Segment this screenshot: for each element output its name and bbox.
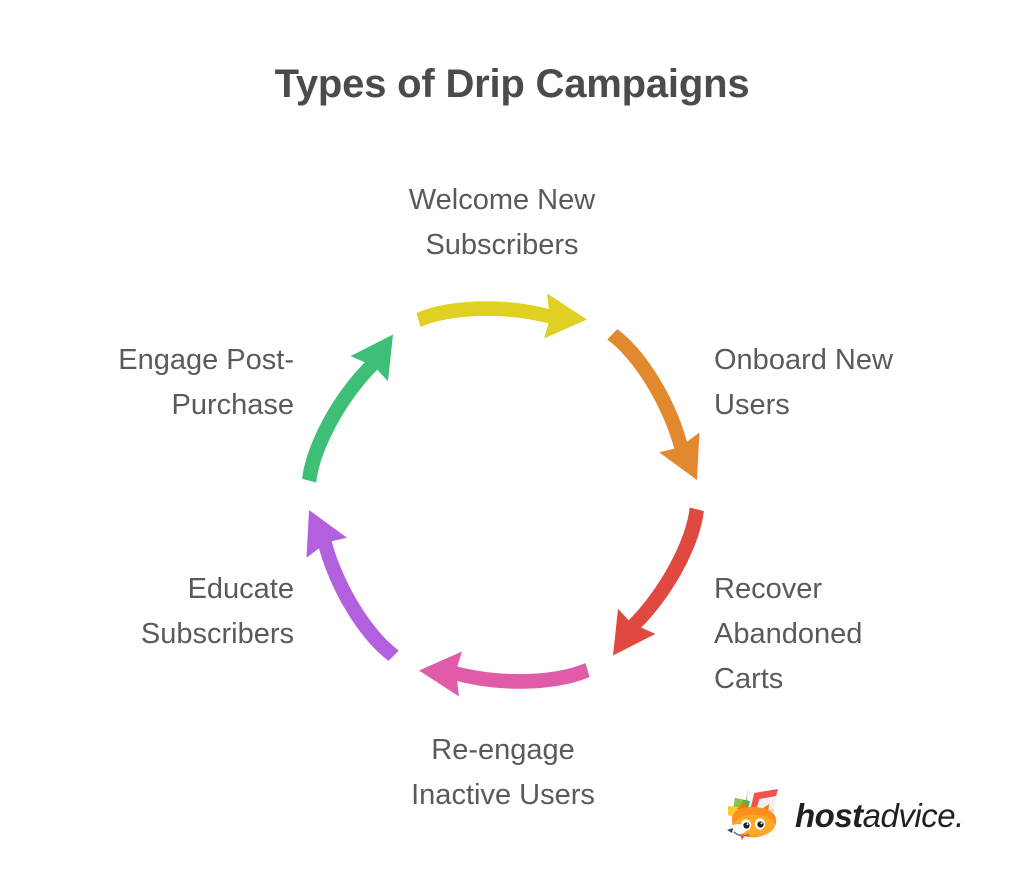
cycle-label-welcome-new-subscribers: Welcome New Subscribers <box>312 178 692 268</box>
hostadvice-fox-logo-icon <box>724 787 786 843</box>
hostadvice-wordmark: hostadvice. <box>795 799 964 832</box>
cycle-arrow-engage-post-purchase <box>288 322 409 492</box>
cycle-label-engage-post-purchase: Engage Post- Purchase <box>10 338 294 428</box>
cycle-arrow-educate-subscribers <box>288 501 411 671</box>
cycle-arrow-recover-abandoned-carts <box>597 498 718 668</box>
cycle-label-re-engage-inactive-users: Re-engage Inactive Users <box>313 728 693 818</box>
logo-text-host: host <box>795 797 863 834</box>
infographic-canvas: Types of Drip Campaigns <box>0 0 1024 896</box>
cycle-label-educate-subscribers: Educate Subscribers <box>10 567 294 657</box>
cycle-label-onboard-new-users: Onboard New Users <box>714 338 1014 428</box>
cycle-arrow-welcome-new-subscribers <box>417 294 588 339</box>
cycle-arrows-svg <box>288 280 718 710</box>
cycle-label-recover-abandoned-carts: Recover Abandoned Carts <box>714 567 1014 702</box>
cycle-arrow-re-engage-inactive-users <box>419 652 590 697</box>
cycle-arrow-onboard-new-users <box>595 319 718 489</box>
logo-text-advice: advice. <box>863 797 964 834</box>
cycle-diagram: Welcome New Subscribers Onboard New User… <box>0 0 1024 896</box>
hostadvice-logo: hostadvice. <box>724 787 964 843</box>
